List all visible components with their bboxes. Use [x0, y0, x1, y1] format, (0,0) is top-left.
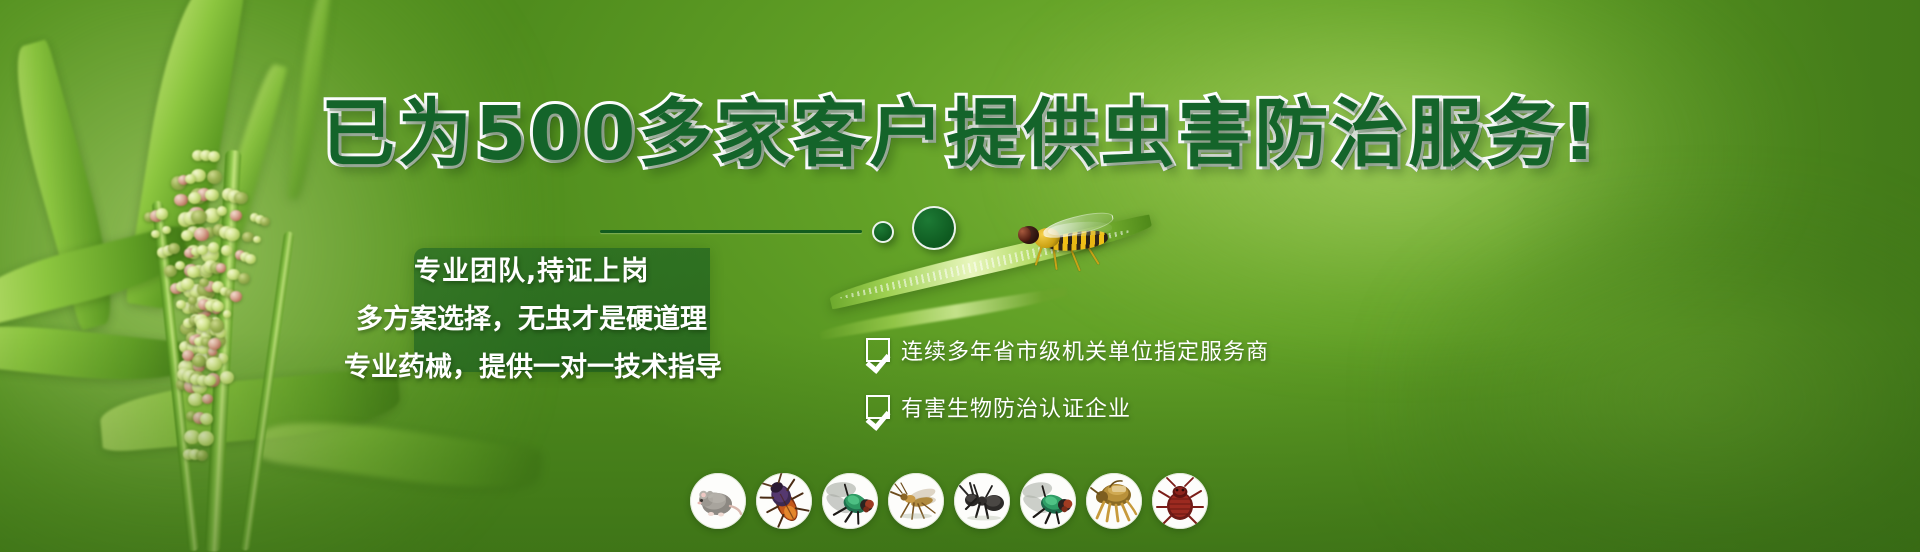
seed-pod: [208, 242, 219, 252]
pest-icon-row: [690, 473, 1208, 529]
flea-icon[interactable]: [1086, 473, 1142, 529]
seed-pod: [183, 449, 195, 460]
credential-item: 有害生物防治认证企业: [866, 391, 1269, 423]
seed-pod: [196, 318, 211, 331]
seed-pod: [184, 211, 200, 226]
seed-pod: [250, 213, 260, 222]
seed-pod: [210, 317, 221, 327]
seed-pod: [196, 353, 209, 365]
checkbox-checked-icon: [866, 395, 890, 419]
seed-pod: [205, 189, 219, 202]
seed-pod: [201, 331, 211, 341]
seed-pod: [178, 360, 195, 375]
seed-pod: [188, 192, 201, 204]
banner-headline-text: 已为500多家客户提供虫害防治服务!: [321, 74, 1599, 181]
seed-pod: [190, 314, 201, 324]
seed-pod: [245, 254, 256, 264]
seed-pod: [235, 250, 246, 260]
seed-pod: [206, 357, 222, 372]
seed-pod: [189, 303, 201, 314]
seed-pod: [204, 208, 221, 223]
seed-pod: [197, 304, 212, 318]
seed-pod: [260, 217, 270, 226]
seed-pod: [205, 300, 217, 311]
seed-pod: [200, 337, 213, 349]
seed-pod: [183, 370, 198, 384]
seed-pod: [192, 334, 202, 343]
seed-pod: [176, 281, 189, 293]
seed-pod: [203, 318, 214, 328]
seed-pod: [208, 347, 218, 356]
seed-pod: [183, 318, 195, 329]
seed-pod: [223, 310, 232, 318]
seed-pod: [215, 328, 226, 338]
seed-pod: [253, 236, 262, 244]
seed-pod: [202, 394, 213, 404]
seed-pod: [198, 431, 214, 446]
seed-pod: [217, 206, 227, 215]
seed-pod: [187, 226, 199, 237]
seed-pod: [175, 261, 185, 271]
credential-label: 连续多年省市级机关单位指定服务商: [901, 334, 1269, 366]
insect-thorax: [1033, 227, 1061, 250]
seed-pod: [219, 226, 234, 240]
seed-pod: [197, 343, 210, 355]
seed-pod: [189, 316, 201, 327]
seed-pod: [194, 314, 208, 327]
hoverfly-insect: [1012, 208, 1142, 278]
seed-pod: [177, 368, 192, 382]
seed-pod: [203, 317, 214, 327]
seed-pod: [200, 265, 214, 278]
seed-pod: [230, 210, 242, 221]
decorative-dot-small: [872, 221, 894, 243]
feature-line-1: 专业团队,持证上岗: [330, 258, 750, 285]
seed-pod: [168, 243, 180, 254]
seed-pod: [201, 263, 214, 275]
seed-pod: [189, 449, 201, 460]
blowfly-icon[interactable]: [822, 473, 878, 529]
insect-wing: [1048, 221, 1112, 237]
insect-leg: [1086, 245, 1099, 265]
leaf-blade: [258, 411, 542, 499]
seed-pod: [206, 373, 221, 386]
seed-pod: [210, 354, 222, 365]
seed-pod: [197, 282, 213, 297]
seed-pod: [188, 393, 203, 406]
seed-pod: [213, 224, 225, 235]
promo-banner: 已为500多家客户提供虫害防治服务! 专业团队,持证上岗 多方案选择，无虫才是硬…: [0, 0, 1920, 552]
seed-pod: [176, 300, 185, 309]
plant-stem: [240, 231, 295, 551]
seed-pod: [242, 232, 254, 243]
grass-blade-secondary: [819, 287, 1068, 340]
seed-pod: [201, 298, 216, 312]
seed-pod: [207, 299, 222, 313]
ant-icon[interactable]: [954, 473, 1010, 529]
seed-pod: [201, 246, 219, 263]
seed-pod: [194, 353, 206, 364]
seed-pod: [179, 341, 193, 354]
seed-pod: [186, 245, 201, 259]
seed-pod: [193, 361, 205, 372]
seed-pod: [188, 296, 197, 305]
credential-item: 连续多年省市级机关单位指定服务商: [866, 334, 1269, 366]
seed-pod: [240, 252, 251, 262]
seed-pod: [208, 338, 221, 350]
seed-pod: [204, 281, 216, 292]
seed-pod: [187, 341, 201, 354]
seed-pod: [255, 215, 265, 224]
insect-leg: [1052, 246, 1057, 270]
seed-pod: [170, 283, 183, 295]
insect-leg: [1069, 247, 1081, 272]
feature-line-3: 专业药械，提供一对一技术指导: [330, 354, 750, 381]
seed-pod: [190, 371, 205, 385]
feature-line-2: 多方案选择，无虫才是硬道理: [330, 306, 750, 333]
seed-pod: [162, 226, 171, 235]
decorative-dot-large: [912, 206, 956, 250]
seed-pod: [195, 227, 207, 238]
insect-leg: [1035, 244, 1044, 266]
seed-pod: [181, 230, 193, 241]
seed-pod: [190, 188, 208, 205]
seed-pod: [150, 210, 163, 222]
insect-abdomen: [1045, 228, 1109, 253]
seed-pod: [195, 296, 210, 310]
seed-pod: [225, 289, 235, 298]
seed-pod: [191, 210, 207, 225]
seed-pod: [222, 188, 236, 201]
insect-wing: [1041, 209, 1115, 242]
mosquito-icon[interactable]: [888, 473, 944, 529]
seed-pod: [205, 324, 216, 334]
seed-pod: [197, 245, 208, 255]
seed-pod: [197, 375, 209, 386]
seed-pod: [190, 284, 206, 299]
seed-pod: [180, 322, 195, 336]
seed-pod: [196, 323, 214, 340]
seed-pod: [184, 379, 199, 393]
leaf-blade: [0, 224, 193, 328]
seed-pod: [178, 212, 194, 227]
seed-pod: [234, 192, 248, 205]
blowfly-icon-2[interactable]: [1020, 473, 1076, 529]
banner-headline: 已为500多家客户提供虫害防治服务!: [0, 74, 1920, 181]
seed-pod: [210, 326, 221, 336]
seed-pod: [151, 230, 160, 239]
seed-pod: [186, 332, 200, 345]
checkbox-checked-icon: [866, 338, 890, 362]
seed-pod: [164, 265, 178, 278]
seed-pod: [174, 194, 187, 206]
leaf-blade: [0, 317, 192, 389]
seed-pod: [187, 266, 200, 278]
seed-pod: [190, 374, 202, 385]
seed-pod: [192, 265, 206, 278]
seed-pod: [194, 228, 209, 241]
seed-pod: [157, 247, 169, 258]
plant-stem: [204, 150, 241, 552]
seed-pod: [204, 260, 218, 273]
insect-head: [1019, 226, 1039, 244]
seed-pod: [193, 412, 206, 424]
seed-pod: [192, 380, 207, 394]
seed-pod: [192, 355, 205, 367]
seed-pod: [188, 207, 205, 222]
feature-box-text: 专业团队,持证上岗 多方案选择，无虫才是硬道理 专业药械，提供一对一技术指导: [330, 258, 750, 381]
seed-pod: [176, 379, 188, 390]
seed-pod: [156, 208, 169, 220]
seed-pod: [181, 278, 194, 290]
seed-pod: [210, 319, 225, 332]
seed-pod: [216, 353, 228, 364]
seed-pod: [197, 319, 208, 329]
light-bloom-bottom-right: [1400, 200, 1920, 552]
seed-pod: [238, 273, 251, 285]
seed-pod: [197, 188, 211, 201]
divider-line: [600, 230, 862, 233]
seed-pod: [189, 335, 199, 345]
seed-pod: [198, 284, 215, 299]
plant-stem: [152, 200, 200, 551]
seed-pod: [184, 248, 195, 258]
seed-pod: [216, 263, 226, 272]
credentials-list: 连续多年省市级机关单位指定服务商 有害生物防治认证企业: [866, 334, 1269, 448]
seed-pod: [200, 413, 213, 425]
seed-pod: [194, 337, 205, 347]
bedbug-icon[interactable]: [1152, 473, 1208, 529]
rodent-icon[interactable]: [690, 473, 746, 529]
seed-pod: [199, 278, 209, 287]
cockroach-icon[interactable]: [756, 473, 812, 529]
seed-pod: [204, 375, 216, 386]
seed-pod: [186, 411, 197, 421]
seed-pod: [182, 302, 194, 313]
seed-pod: [212, 306, 221, 314]
seed-pod: [203, 227, 215, 238]
seed-pod: [184, 264, 198, 277]
seed-pod: [220, 287, 230, 296]
seed-pod: [198, 299, 210, 310]
seed-pod: [182, 350, 194, 361]
seed-pod: [163, 245, 175, 256]
seed-pod: [221, 245, 232, 255]
seed-pod: [230, 291, 242, 302]
seed-pod: [207, 299, 222, 312]
seed-pod: [212, 281, 224, 292]
seed-pod: [183, 283, 200, 298]
seed-pod: [144, 212, 154, 222]
seed-pod: [225, 228, 240, 242]
seed-pod: [201, 337, 212, 347]
seed-pod: [228, 190, 242, 203]
seed-pod: [194, 342, 208, 355]
seed-pod: [210, 262, 224, 275]
seed-pod: [207, 349, 220, 361]
seed-pod: [196, 450, 208, 461]
credential-label: 有害生物防治认证企业: [901, 391, 1131, 423]
seed-pod: [227, 269, 240, 281]
seed-pod: [193, 302, 205, 313]
seed-pod: [203, 355, 219, 370]
seed-pod: [213, 335, 226, 347]
seed-pod: [201, 351, 214, 363]
seed-pod: [198, 335, 208, 344]
seed-pod: [184, 430, 200, 445]
seed-pod: [212, 301, 224, 312]
seed-pod: [220, 371, 235, 384]
seed-pod: [191, 247, 202, 257]
